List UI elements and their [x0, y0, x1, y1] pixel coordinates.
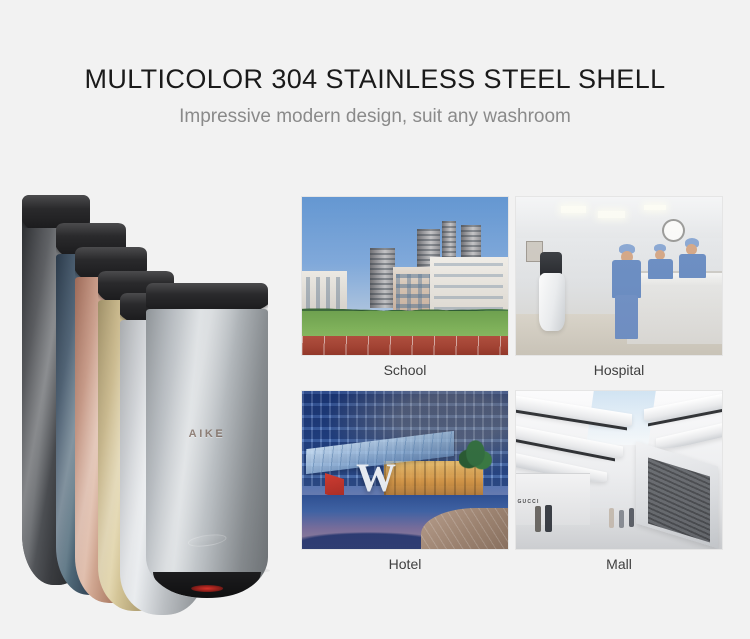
- nurse-scrubs-top: [612, 260, 641, 298]
- ceiling-light: [598, 211, 625, 217]
- service-robot-body: [539, 273, 566, 331]
- scene-cell-hotel: W Hotel: [302, 391, 508, 585]
- ceiling: [516, 197, 722, 238]
- scene-photo-mall[interactable]: GUCCI: [516, 391, 722, 549]
- store-sign-gucci: GUCCI: [517, 499, 539, 505]
- shopper: [535, 506, 542, 531]
- staff-scrubs: [679, 254, 706, 278]
- shopper: [629, 508, 634, 527]
- led-indicator: [191, 585, 223, 592]
- scene-cell-school: School: [302, 197, 508, 391]
- hotel-logo-sculpture: W: [347, 457, 405, 498]
- wall-clock: [662, 219, 685, 242]
- scene-photo-hospital[interactable]: [516, 197, 722, 355]
- page-title: MULTICOLOR 304 STAINLESS STEEL SHELL: [0, 62, 750, 96]
- nurse-scrubs-pants: [615, 295, 638, 339]
- scene-cell-hospital: Hospital: [516, 197, 722, 391]
- shopper: [619, 510, 624, 529]
- product-showcase: AIKE: [0, 175, 300, 605]
- palm-tree: [459, 438, 492, 476]
- ceiling-light: [561, 206, 586, 212]
- product-variant-brushed-silver[interactable]: AIKE: [146, 283, 268, 598]
- scene-cell-mall: GUCCI Mall: [516, 391, 722, 585]
- application-scenes-grid: School: [302, 197, 722, 585]
- running-track: [302, 336, 508, 355]
- shopper: [609, 508, 614, 529]
- shopper: [545, 505, 552, 532]
- scene-caption-hospital: Hospital: [516, 355, 722, 391]
- header: MULTICOLOR 304 STAINLESS STEEL SHELL Imp…: [0, 0, 750, 130]
- reception-counter: [627, 271, 722, 344]
- scene-photo-hotel[interactable]: W: [302, 391, 508, 549]
- scene-caption-school: School: [302, 355, 508, 391]
- scene-photo-school[interactable]: [302, 197, 508, 355]
- shell-glare: [146, 309, 268, 598]
- sports-field: [302, 311, 508, 339]
- page-subtitle: Impressive modern design, suit any washr…: [0, 104, 750, 130]
- unit-shell: AIKE: [146, 309, 268, 598]
- storefront: GUCCI: [516, 473, 590, 525]
- scene-caption-mall: Mall: [516, 549, 722, 585]
- sensor-window: [187, 532, 227, 548]
- staff-scrubs: [648, 259, 673, 280]
- product-brand-label: AIKE: [146, 428, 268, 440]
- ceiling-light: [644, 205, 667, 211]
- scene-caption-hotel: Hotel: [302, 549, 508, 585]
